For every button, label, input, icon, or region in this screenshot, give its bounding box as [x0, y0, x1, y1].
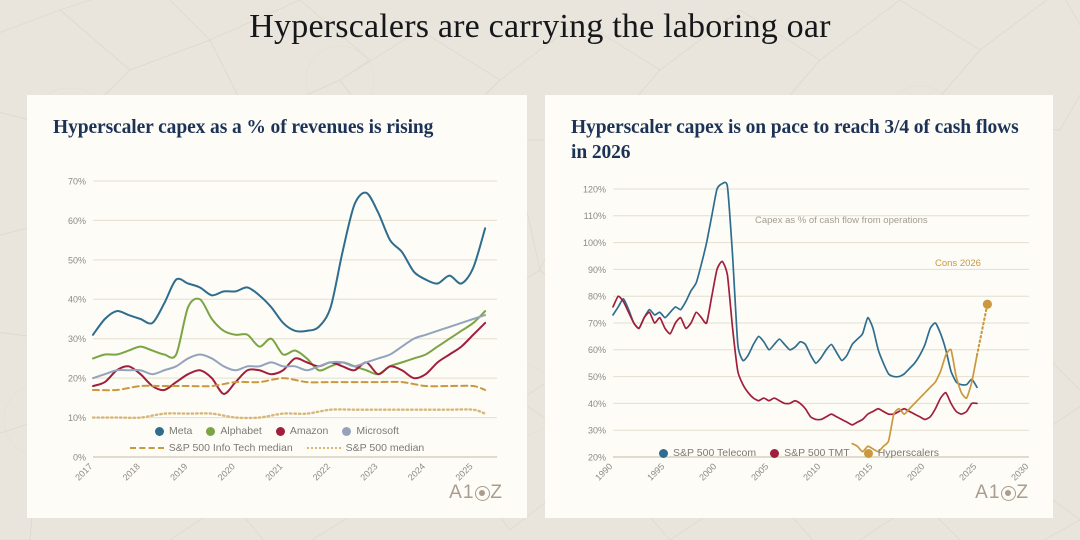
- y-tick-label: 40%: [588, 399, 606, 409]
- legend-item[interactable]: S&P 500 Telecom: [659, 447, 756, 459]
- x-tick-label: 2021: [263, 461, 284, 482]
- series-line-s-p-500-median: [93, 409, 485, 418]
- y-tick-label: 60%: [68, 216, 86, 226]
- y-tick-label: 100%: [583, 238, 606, 248]
- logo-letter-a: A: [975, 482, 989, 504]
- x-tick-label: 2020: [216, 461, 237, 482]
- legend-dot-icon: [206, 427, 215, 436]
- y-tick-label: 40%: [68, 295, 86, 305]
- y-tick-label: 90%: [588, 265, 606, 275]
- x-tick-label: 1990: [593, 461, 614, 482]
- chart-card-right: Hyperscaler capex is on pace to reach 3/…: [545, 95, 1053, 518]
- legend-item[interactable]: Meta: [155, 425, 192, 437]
- data-point-marker: [983, 300, 992, 309]
- y-tick-label: 30%: [588, 426, 606, 436]
- y-tick-label: 50%: [68, 255, 86, 265]
- legend-dot-icon: [864, 449, 873, 458]
- x-tick-label: 2017: [73, 461, 94, 482]
- series-line-s-p-500-info-tech-median: [93, 378, 485, 390]
- legend-label: Microsoft: [356, 425, 399, 437]
- legend-dot-icon: [276, 427, 285, 436]
- legend-dotted-line-icon: [307, 447, 341, 449]
- page-title: Hyperscalers are carrying the laboring o…: [0, 8, 1080, 46]
- logo-letter-1: 1: [463, 482, 475, 504]
- chart-annotation: Capex as % of cash flow from operations: [755, 215, 928, 226]
- x-tick-label: 2015: [853, 461, 874, 482]
- chart-legend-left: MetaAlphabetAmazonMicrosoft S&P 500 Info…: [27, 425, 527, 459]
- x-tick-label: 2025: [453, 461, 474, 482]
- series-line-meta: [93, 193, 485, 335]
- series-line-hyperscalers-consensus: [977, 304, 987, 355]
- logo-ring-icon: [1001, 486, 1016, 501]
- legend-label: S&P 500 TMT: [784, 447, 850, 459]
- series-line-s-p-500-tmt: [613, 261, 977, 425]
- y-tick-label: 50%: [588, 372, 606, 382]
- chart-legend-right: S&P 500 TelecomS&P 500 TMTHyperscalers: [545, 447, 1053, 464]
- legend-label: Alphabet: [220, 425, 261, 437]
- x-tick-label: 2022: [311, 461, 332, 482]
- x-tick-label: 2018: [121, 461, 142, 482]
- y-tick-label: 70%: [68, 176, 86, 186]
- x-tick-label: 2020: [905, 461, 926, 482]
- chart-card-left: Hyperscaler capex as a % of revenues is …: [27, 95, 527, 518]
- legend-label: S&P 500 Info Tech median: [169, 442, 293, 454]
- x-tick-label: 2030: [1009, 461, 1030, 482]
- x-tick-label: 2025: [957, 461, 978, 482]
- logo-ring-icon: [475, 486, 490, 501]
- y-tick-label: 60%: [588, 345, 606, 355]
- logo-letter-z: Z: [1016, 482, 1029, 504]
- y-tick-label: 110%: [584, 211, 606, 221]
- legend-dot-icon: [342, 427, 351, 436]
- legend-dashed-line-icon: [130, 447, 164, 449]
- legend-item[interactable]: Amazon: [276, 425, 329, 437]
- a16z-logo: A1Z: [449, 482, 503, 504]
- x-tick-label: 2023: [358, 461, 379, 482]
- series-line-microsoft: [93, 315, 485, 378]
- chart-title-left: Hyperscaler capex as a % of revenues is …: [53, 115, 433, 140]
- legend-item[interactable]: Microsoft: [342, 425, 399, 437]
- legend-dot-icon: [155, 427, 164, 436]
- legend-label: S&P 500 Telecom: [673, 447, 756, 459]
- legend-item[interactable]: Hyperscalers: [864, 447, 939, 459]
- y-tick-label: 70%: [588, 318, 606, 328]
- legend-item[interactable]: S&P 500 median: [307, 442, 425, 454]
- x-tick-label: 2005: [749, 461, 770, 482]
- legend-label: S&P 500 median: [346, 442, 425, 454]
- chart-title-right: Hyperscaler capex is on pace to reach 3/…: [571, 115, 1021, 165]
- x-tick-label: 2010: [801, 461, 822, 482]
- x-tick-label: 2000: [697, 461, 718, 482]
- x-tick-label: 1995: [645, 461, 666, 482]
- y-tick-label: 30%: [68, 334, 86, 344]
- y-tick-label: 20%: [68, 374, 86, 384]
- legend-label: Meta: [169, 425, 192, 437]
- legend-dot-icon: [770, 449, 779, 458]
- a16z-logo: A1Z: [975, 482, 1029, 504]
- cons-2026-label: Cons 2026: [935, 258, 981, 269]
- y-tick-label: 80%: [588, 292, 606, 302]
- logo-letter-a: A: [449, 482, 463, 504]
- logo-letter-1: 1: [989, 482, 1001, 504]
- legend-item[interactable]: Alphabet: [206, 425, 261, 437]
- x-tick-label: 2024: [406, 461, 427, 482]
- x-tick-label: 2019: [168, 461, 189, 482]
- series-line-s-p-500-telecom: [613, 182, 977, 387]
- logo-letter-z: Z: [490, 482, 503, 504]
- legend-label: Hyperscalers: [878, 447, 939, 459]
- series-line-hyperscalers: [852, 349, 977, 451]
- legend-item[interactable]: S&P 500 TMT: [770, 447, 850, 459]
- legend-label: Amazon: [290, 425, 329, 437]
- y-tick-label: 10%: [68, 413, 86, 423]
- legend-item[interactable]: S&P 500 Info Tech median: [130, 442, 293, 454]
- y-tick-label: 120%: [583, 184, 606, 194]
- legend-dot-icon: [659, 449, 668, 458]
